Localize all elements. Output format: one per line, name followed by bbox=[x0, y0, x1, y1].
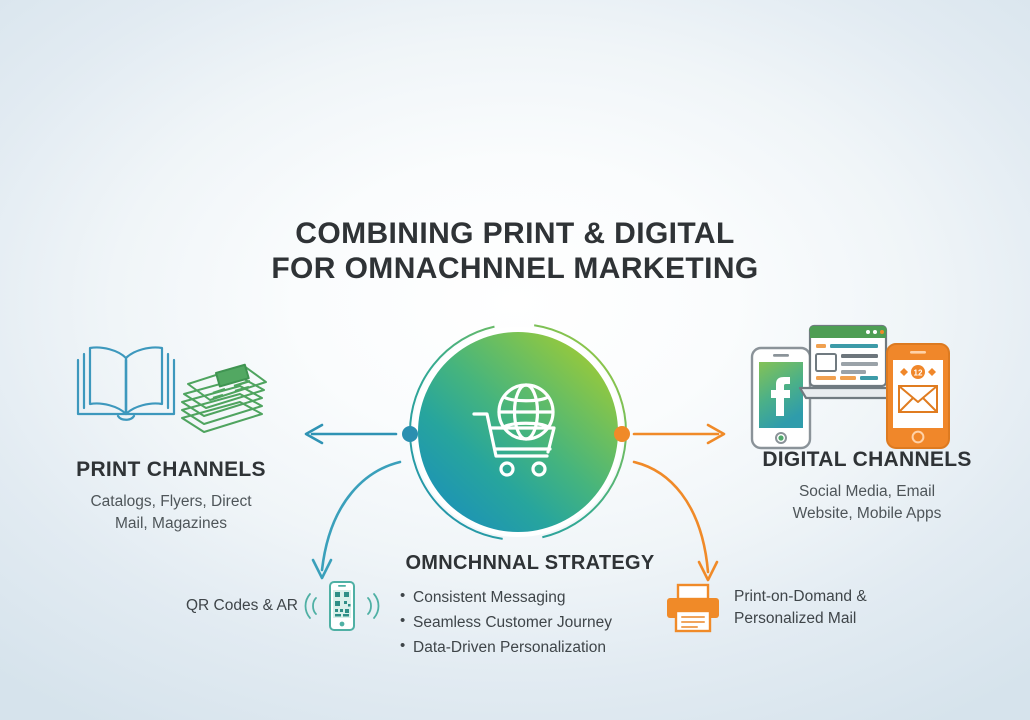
strategy-bullet-list: Consistent Messaging Seamless Customer J… bbox=[382, 585, 678, 660]
email-phone-icon: 12 bbox=[885, 342, 951, 450]
qr-codes-ar-block: QR Codes & AR bbox=[186, 578, 382, 634]
arrow-right-to-digital bbox=[634, 425, 724, 443]
magazine-stack-icon bbox=[176, 356, 272, 446]
strategy-bullet: Seamless Customer Journey bbox=[400, 610, 678, 635]
print-channels-heading: PRINT CHANNELS bbox=[28, 458, 314, 482]
strategy-bullet: Data-Driven Personalization bbox=[400, 635, 678, 660]
open-book-icon bbox=[66, 334, 186, 430]
svg-text:12: 12 bbox=[914, 369, 923, 378]
connector-dot-right bbox=[614, 426, 630, 442]
page-title: COMBINING PRINT & DIGITAL FOR OMNACHNNEL… bbox=[0, 216, 1030, 287]
print-channels-panel: PRINT CHANNELS Catalogs, Flyers, Direct … bbox=[28, 330, 314, 535]
qr-label: QR Codes & AR bbox=[186, 597, 298, 615]
qr-phone-icon bbox=[302, 578, 382, 634]
digital-channels-panel: 12 DIGITAL CHANNELS Social Media, Email … bbox=[722, 320, 1012, 525]
title-line-2: FOR OMNACHNNEL MARKETING bbox=[0, 251, 1030, 286]
printer-line-1: Print-on-Domand & bbox=[734, 586, 867, 608]
print-on-demand-block: Print-on-Domand & Personalized Mail bbox=[664, 583, 867, 633]
title-line-1: COMBINING PRINT & DIGITAL bbox=[0, 216, 1030, 251]
digital-channels-heading: DIGITAL CHANNELS bbox=[722, 448, 1012, 472]
center-hub bbox=[406, 320, 630, 544]
print-sub-line-2: Mail, Magazines bbox=[28, 513, 314, 535]
digital-sub-line-2: Website, Mobile Apps bbox=[722, 503, 1012, 525]
omnichannel-strategy-block: OMNCHNNAL STRATEGY Consistent Messaging … bbox=[382, 552, 678, 660]
print-sub-line-1: Catalogs, Flyers, Direct bbox=[28, 491, 314, 513]
digital-channels-subtitle: Social Media, Email Website, Mobile Apps bbox=[722, 481, 1012, 525]
globe-shopping-cart-icon bbox=[454, 368, 582, 496]
print-channel-icons bbox=[28, 330, 314, 450]
printer-line-2: Personalized Mail bbox=[734, 608, 867, 630]
connector-dot-left bbox=[402, 426, 418, 442]
infographic-canvas: COMBINING PRINT & DIGITAL FOR OMNACHNNEL… bbox=[0, 0, 1030, 720]
strategy-heading: OMNCHNNAL STRATEGY bbox=[382, 552, 678, 575]
print-on-demand-label: Print-on-Domand & Personalized Mail bbox=[734, 586, 867, 630]
digital-channel-icons: 12 bbox=[722, 320, 1012, 440]
arrow-left-to-print bbox=[306, 425, 396, 443]
strategy-bullet: Consistent Messaging bbox=[400, 585, 678, 610]
digital-sub-line-1: Social Media, Email bbox=[722, 481, 1012, 503]
printer-icon bbox=[664, 583, 722, 633]
print-channels-subtitle: Catalogs, Flyers, Direct Mail, Magazines bbox=[28, 491, 314, 535]
